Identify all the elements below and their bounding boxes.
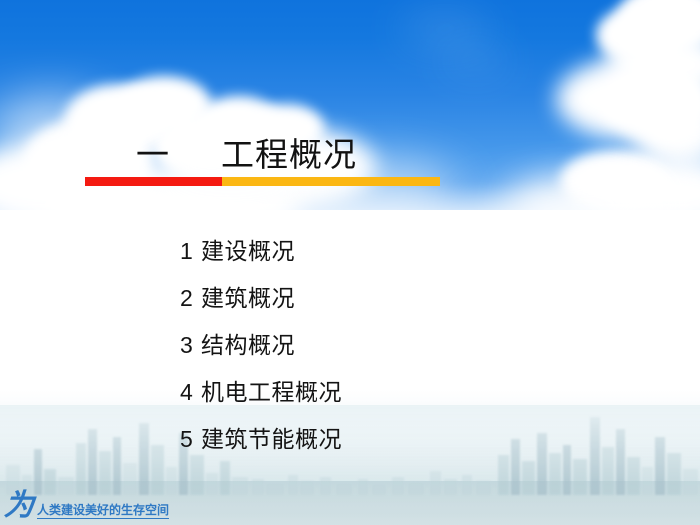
list-item-label: 结构概况 (201, 322, 295, 369)
list-item-number: 5 (180, 416, 201, 463)
slide-title: 一 工程概况 (136, 137, 357, 173)
presentation-slide: 一 工程概况 1 建设概况 2 建筑概况 3 结构概况 4 机电工程概况 (0, 0, 700, 525)
company-logo-icon: 为 人类建设美好的生存空间 (4, 491, 169, 521)
cloud-icon (440, 52, 510, 70)
list-item-number: 2 (180, 275, 201, 322)
list-item[interactable]: 4 机电工程概况 (180, 369, 342, 416)
section-number: 一 (136, 137, 169, 173)
list-item-number: 4 (180, 369, 201, 416)
slide-body: 1 建设概况 2 建筑概况 3 结构概况 4 机电工程概况 5 建筑节能概况 (0, 210, 700, 525)
list-item[interactable]: 2 建筑概况 (180, 275, 342, 322)
list-item-label: 建筑概况 (201, 275, 295, 322)
logo-mark-glyph: 为 (3, 491, 35, 521)
list-item-label: 建设概况 (201, 228, 295, 275)
list-item[interactable]: 5 建筑节能概况 (180, 416, 342, 463)
agenda-list: 1 建设概况 2 建筑概况 3 结构概况 4 机电工程概况 5 建筑节能概况 (180, 228, 342, 463)
list-item[interactable]: 1 建设概况 (180, 228, 342, 275)
logo-slogan: 人类建设美好的生存空间 (37, 503, 169, 519)
list-item-number: 1 (180, 228, 201, 275)
list-item-number: 3 (180, 322, 201, 369)
list-item-label: 建筑节能概况 (201, 416, 342, 463)
cloud-icon (400, 18, 490, 40)
title-underline-red (85, 177, 222, 186)
title-underline-yellow (222, 177, 440, 186)
section-title-text: 工程概况 (221, 137, 357, 173)
sky-bottom-haze (0, 184, 700, 210)
list-item-label: 机电工程概况 (201, 369, 342, 416)
list-item[interactable]: 3 结构概况 (180, 322, 342, 369)
